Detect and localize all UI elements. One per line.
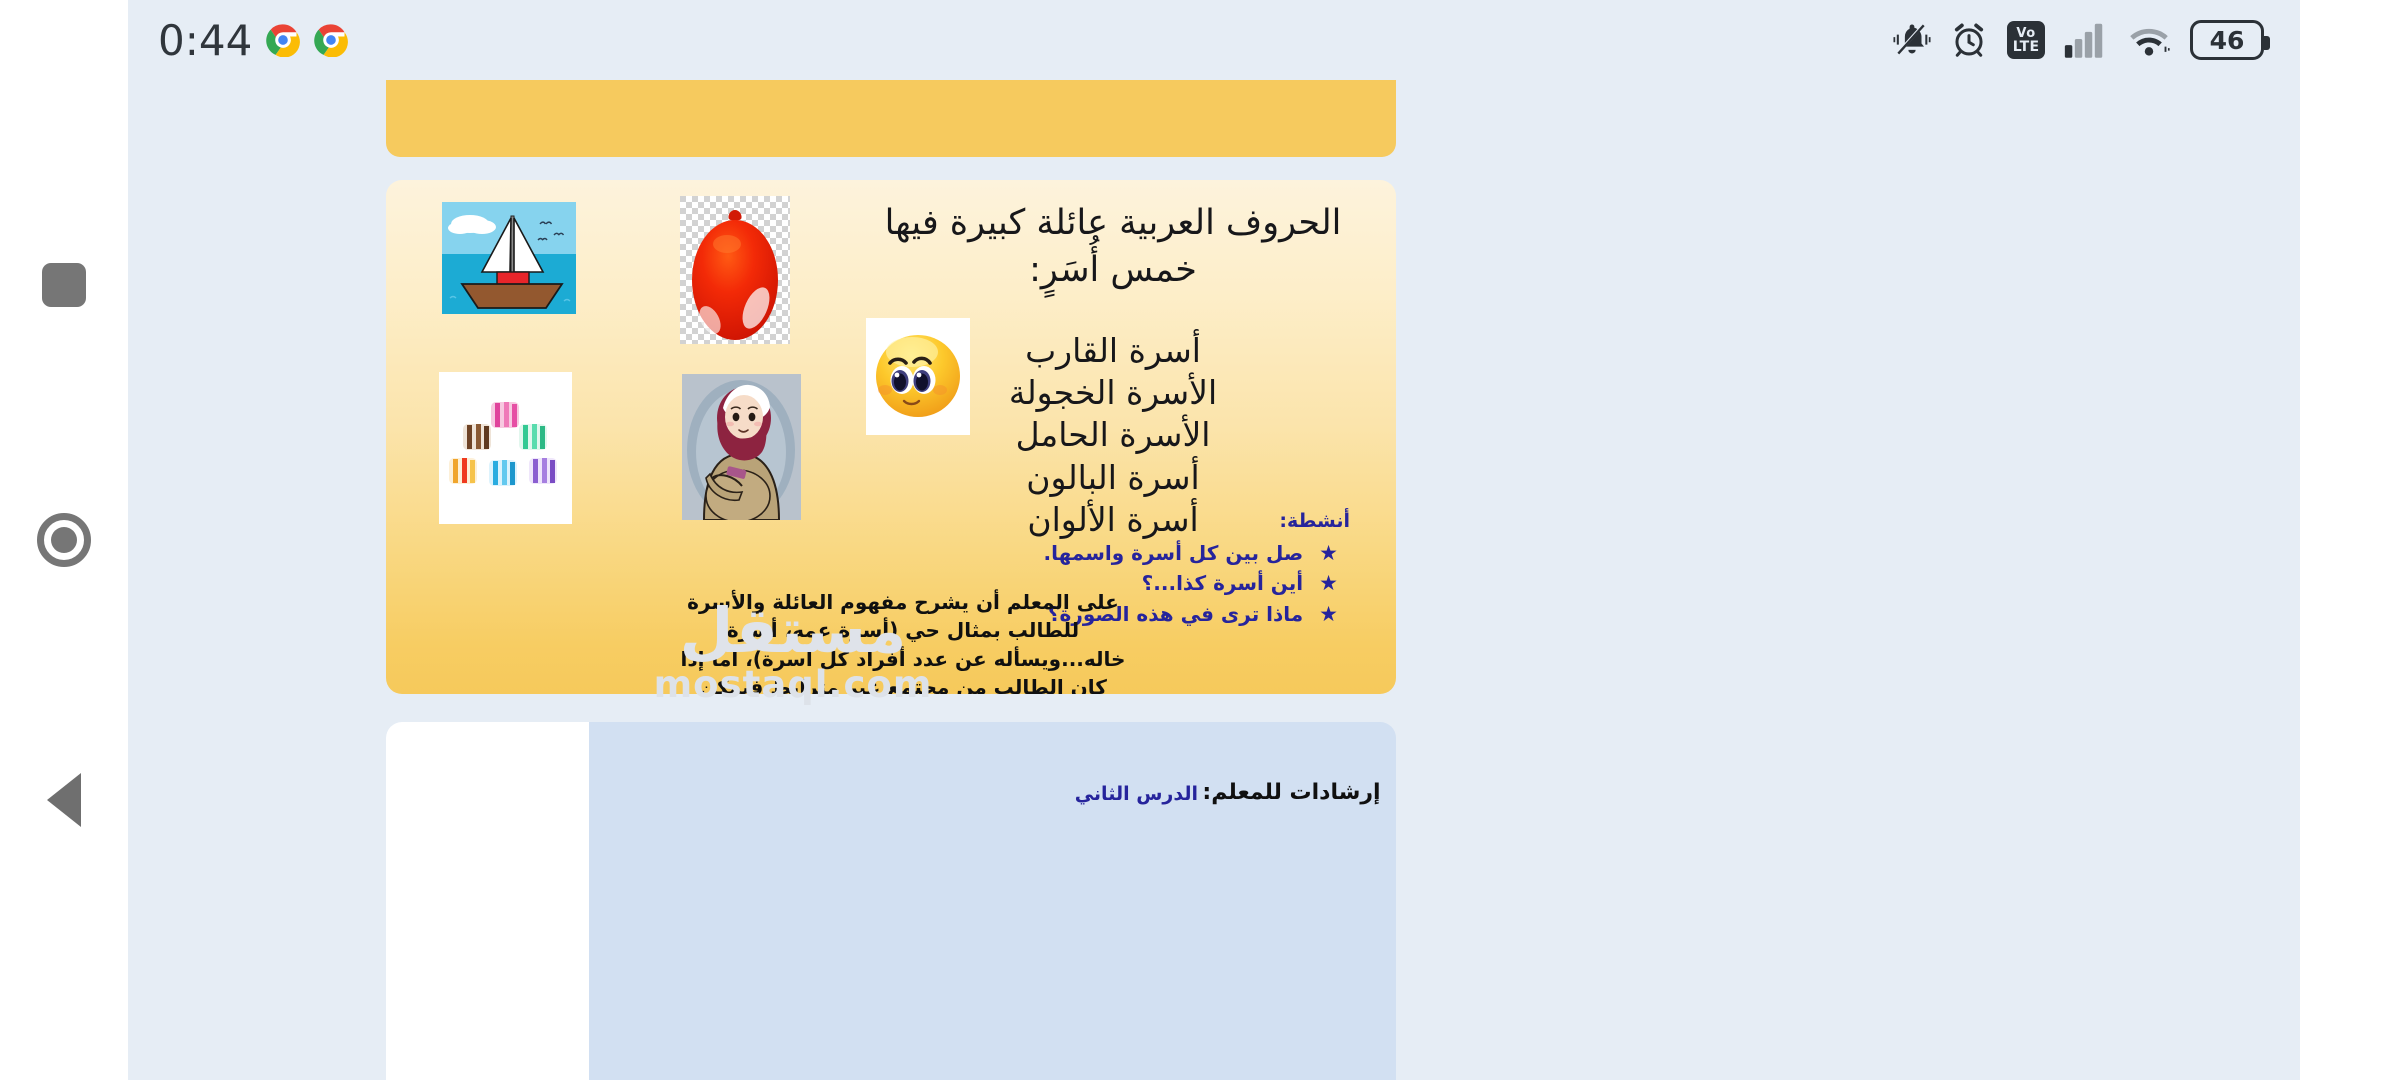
signal-bars-icon <box>2064 21 2108 59</box>
chrome-icon[interactable] <box>314 23 348 57</box>
volte-bottom-text: LTE <box>2013 40 2040 54</box>
status-bar-left: 0:44 <box>158 16 348 65</box>
chrome-icon[interactable] <box>266 23 300 57</box>
battery-level-text: 46 <box>2210 26 2245 55</box>
activity-text: صل بين كل أسرة واسمها. <box>1044 539 1304 568</box>
list-item: ★ صل بين كل أسرة واسمها. <box>920 538 1350 568</box>
wifi-icon <box>2127 21 2171 59</box>
activity-text: أين أسرة كذا...؟ <box>1142 569 1304 598</box>
star-icon: ★ <box>1319 599 1338 629</box>
boat-image <box>442 202 576 314</box>
previous-slide-banner[interactable]: من الكلمات التي تحتوي على حرف الباء في أ… <box>386 80 1396 157</box>
star-icon: ★ <box>1319 538 1338 568</box>
slide-headline: الحروف العربية عائلة كبيرة فيها خمس أُسَ… <box>878 200 1348 293</box>
star-icon: ★ <box>1319 568 1338 598</box>
status-bar-right: Vo LTE 46 <box>1893 20 2264 60</box>
list-item: أسرة البالون <box>878 457 1348 499</box>
candy-image <box>439 372 572 524</box>
lesson-slide-card[interactable]: الحروف العربية عائلة كبيرة فيها خمس أُسَ… <box>386 180 1396 694</box>
right-bezel <box>2300 0 2400 1080</box>
balloon-image <box>680 196 790 344</box>
activities-title: أنشطة: <box>920 510 1350 532</box>
list-item: أسرة القارب <box>878 330 1348 372</box>
next-slide-white-panel <box>386 722 589 1080</box>
list-item: الأسرة الخجولة <box>878 372 1348 414</box>
status-clock: 0:44 <box>158 16 252 65</box>
list-item: الأسرة الحامل <box>878 414 1348 456</box>
phone-screenshot: 0:44 <box>0 0 2400 1080</box>
mute-vibrate-icon <box>1893 21 1931 59</box>
teacher-note: على المعلم أن يشرح مفهوم العائلة والأسرة… <box>660 588 1146 694</box>
teacher-guidelines-label: إرشادات للمعلم: <box>1199 780 1384 805</box>
scroll-content[interactable]: من الكلمات التي تحتوي على حرف الباء في أ… <box>0 80 2172 1080</box>
battery-icon: 46 <box>2190 20 2264 60</box>
volte-top-text: Vo <box>2016 27 2035 40</box>
next-slide-subtitle: الدرس الثاني <box>998 783 1198 805</box>
pregnant-woman-image <box>682 374 801 520</box>
status-bar: 0:44 <box>128 0 2300 80</box>
volte-icon: Vo LTE <box>2007 21 2045 59</box>
alarm-clock-icon <box>1950 21 1988 59</box>
next-slide-card[interactable]: إرشادات للمعلم: الدرس الثاني <box>386 722 1396 1080</box>
